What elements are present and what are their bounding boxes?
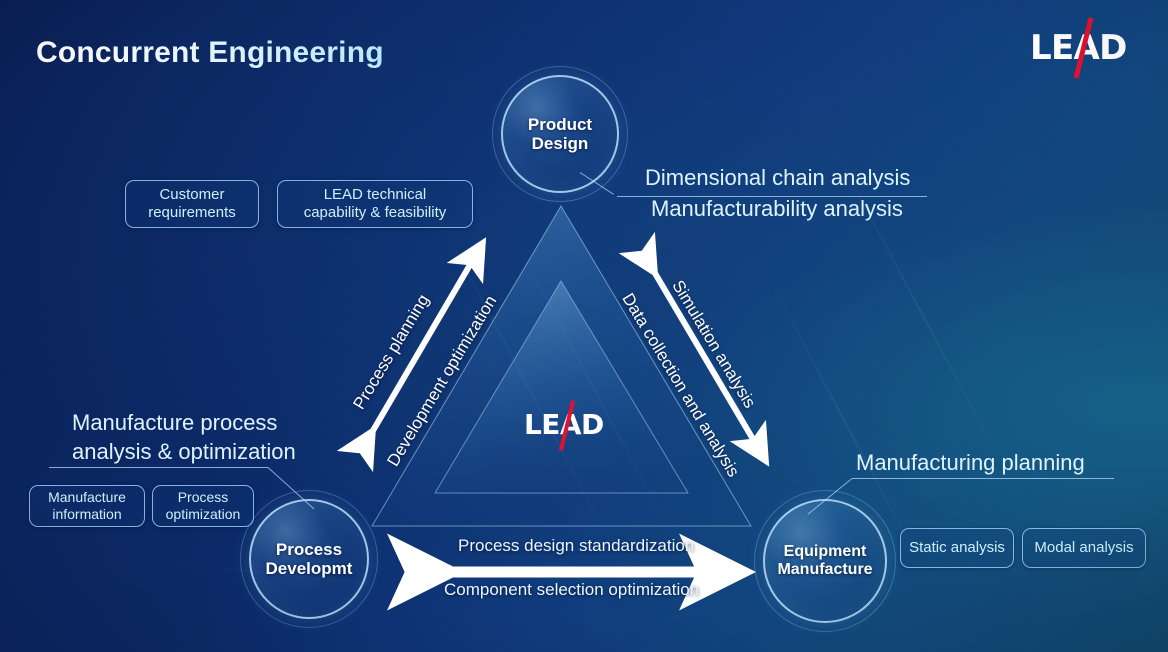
pill-static-analysis[interactable]: Static analysis: [900, 528, 1014, 568]
heading-process-development-line2: analysis & optimization: [72, 439, 296, 466]
pill-manufacture-information[interactable]: Manufacture information: [29, 485, 145, 527]
node-product-design[interactable]: Product Design: [501, 75, 619, 193]
heading-process-development-rule: [49, 467, 268, 468]
node-equipment-manufacture-label: Equipment Manufacture: [777, 543, 872, 579]
pill-modal-analysis[interactable]: Modal analysis: [1022, 528, 1146, 568]
pill-customer-requirements[interactable]: Customer requirements: [125, 180, 259, 228]
pill-customer-requirements-label: Customer requirements: [148, 186, 236, 221]
arrow-label-component-selection-optimization: Component selection optimization: [444, 580, 699, 600]
heading-equipment-manufacture-rule: [852, 478, 1114, 479]
heading-product-design-line2: Manufacturability analysis: [645, 196, 910, 223]
node-product-design-label: Product Design: [528, 115, 592, 153]
pill-manufacture-information-label: Manufacture information: [48, 489, 126, 522]
node-process-development[interactable]: Process Developmt: [249, 499, 369, 619]
node-process-development-label: Process Developmt: [266, 540, 353, 578]
heading-process-development: Manufacture process analysis & optimizat…: [72, 410, 296, 466]
heading-equipment-manufacture-line1: Manufacturing planning: [856, 450, 1085, 477]
arrow-label-process-design-standardization: Process design standardization: [458, 536, 694, 556]
heading-equipment-manufacture: Manufacturing planning: [856, 450, 1085, 477]
pill-lead-technical-capability-label: LEAD technical capability & feasibility: [304, 186, 447, 221]
node-equipment-manufacture[interactable]: Equipment Manufacture: [763, 499, 887, 623]
pill-static-analysis-label: Static analysis: [909, 539, 1005, 557]
slide-canvas: Concurrent Engineering LEAD: [0, 0, 1168, 652]
pill-modal-analysis-label: Modal analysis: [1034, 539, 1133, 557]
heading-product-design: Dimensional chain analysis Manufacturabi…: [645, 165, 910, 223]
heading-product-design-line1: Dimensional chain analysis: [645, 165, 910, 192]
pill-process-optimization[interactable]: Process optimization: [152, 485, 254, 527]
heading-product-design-rule: [617, 196, 927, 197]
center-lead-logo: LEAD: [524, 408, 606, 442]
pill-lead-technical-capability[interactable]: LEAD technical capability & feasibility: [277, 180, 473, 228]
pill-process-optimization-label: Process optimization: [166, 489, 241, 522]
heading-process-development-line1: Manufacture process: [72, 410, 296, 437]
